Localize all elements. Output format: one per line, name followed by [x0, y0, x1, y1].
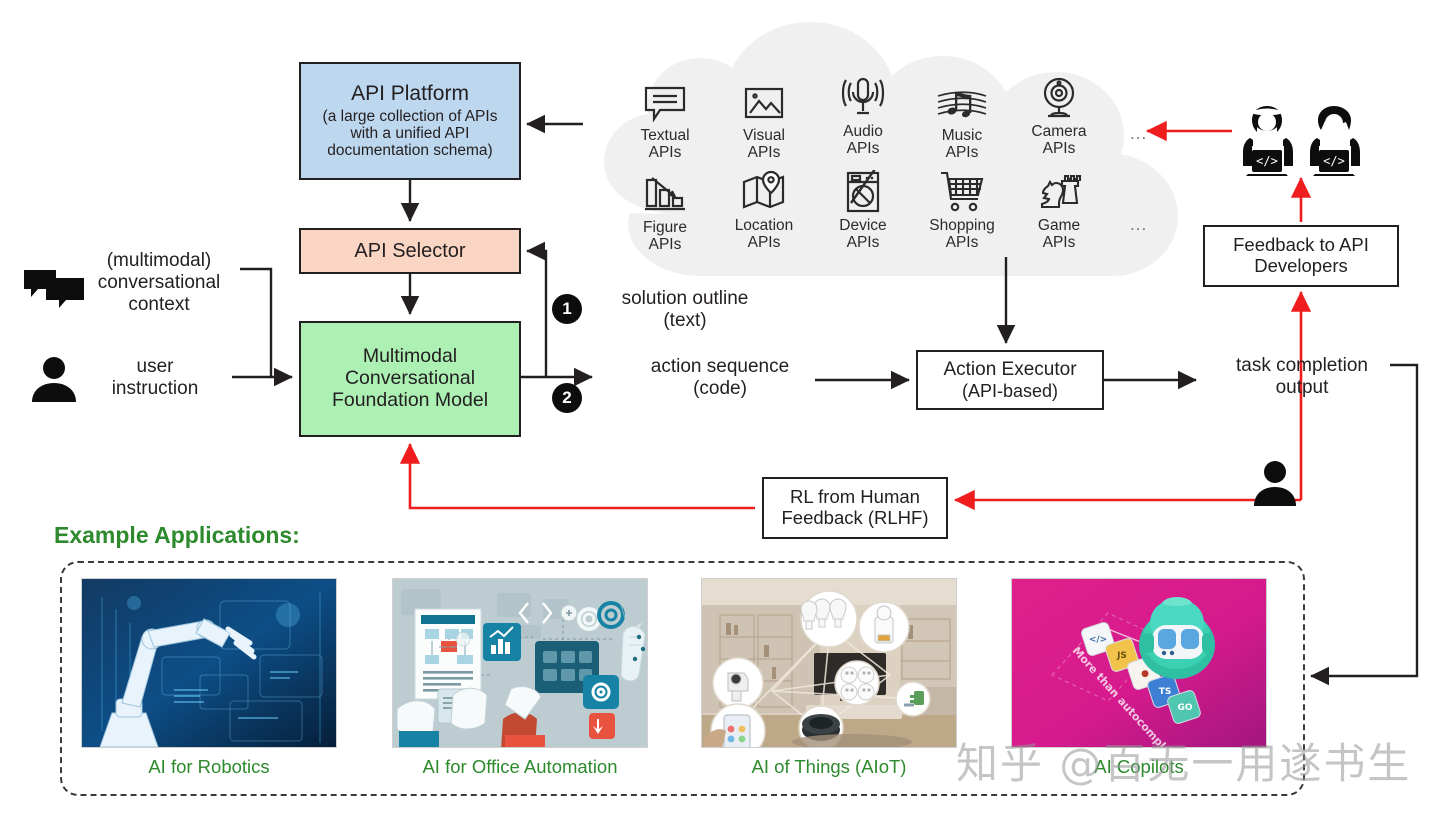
node-title-line2: Feedback (RLHF) — [781, 508, 928, 529]
cloud-item-label: Camera — [1031, 123, 1086, 140]
textual-apis-icon — [642, 76, 688, 124]
example-card-office-automation[interactable]: AI for Office Automation — [392, 578, 648, 778]
label-line2: instruction — [112, 378, 199, 399]
visual-apis-icon — [743, 76, 785, 124]
example-card-caption: AI for Robotics — [81, 756, 337, 778]
node-rl-from-human-feedback[interactable]: RL from Human Feedback (RLHF) — [762, 477, 948, 539]
label-line1: user — [137, 356, 174, 377]
label-line2: conversational — [98, 272, 221, 293]
cloud-item-label: Shopping — [929, 217, 995, 234]
label-line3: context — [128, 294, 189, 315]
developer-icon-2: </> — [1305, 104, 1363, 176]
cloud-item-label: Location — [735, 217, 794, 234]
node-multimodal-conversational-foundation-model[interactable]: Multimodal Conversational Foundation Mod… — [299, 321, 521, 437]
label-task-completion-output: task completion output — [1202, 355, 1402, 399]
node-title-line3: Foundation Model — [332, 390, 488, 412]
cloud-item-label: Device — [839, 217, 886, 234]
step-badge-2: 2 — [552, 383, 582, 413]
node-title: Action Executor — [943, 359, 1076, 380]
shopping-apis-icon — [939, 166, 985, 214]
cloud-item-label: Audio — [843, 123, 883, 140]
label-line1: task completion — [1236, 355, 1368, 376]
label-line1: (multimodal) — [107, 250, 212, 271]
cloud-item-sublabel: APIs — [1043, 234, 1076, 251]
watermark-text: 知乎 @百无一用遂书生 — [956, 730, 1411, 791]
label-line2: (code) — [693, 378, 747, 399]
cloud-item-sublabel: APIs — [748, 144, 781, 161]
example-card-caption: AI of Things (AIoT) — [701, 756, 957, 778]
node-subtitle-line1: (a large collection of APIs — [323, 108, 498, 125]
cloud-item-sublabel: APIs — [847, 234, 880, 251]
label-action-sequence: action sequence (code) — [600, 356, 840, 400]
cloud-item-device-apis: DeviceAPIs — [815, 166, 911, 252]
node-title-line2: Conversational — [345, 368, 475, 390]
example-applications-title: Example Applications: — [54, 522, 300, 549]
node-title-line1: RL from Human — [790, 487, 920, 508]
label-line2: (text) — [663, 310, 706, 331]
label-line1: action sequence — [651, 356, 789, 377]
node-title-line1: Multimodal — [363, 346, 457, 368]
smart-home-photo — [701, 578, 957, 748]
cloud-item-sublabel: APIs — [748, 234, 781, 251]
cloud-item-label: Visual — [743, 127, 785, 144]
example-card-aiot[interactable]: AI of Things (AIoT) — [701, 578, 957, 778]
cloud-item-shopping-apis: ShoppingAPIs — [914, 166, 1010, 252]
end-user-icon — [1252, 460, 1298, 506]
cloud-item-audio-apis: AudioAPIs — [815, 72, 911, 158]
label-user-instruction: user instruction — [80, 356, 230, 400]
cloud-item-sublabel: APIs — [649, 236, 682, 253]
cloud-item-label: Textual — [640, 127, 689, 144]
cloud-item-sublabel: APIs — [946, 234, 979, 251]
node-subtitle-line2: with a unified API — [351, 125, 470, 142]
cloud-item-sublabel: APIs — [649, 144, 682, 161]
developer-icon-1: </> — [1238, 104, 1296, 176]
example-card-caption: AI for Office Automation — [392, 756, 648, 778]
label-line1: solution outline — [622, 288, 749, 309]
cloud-item-location-apis: LocationAPIs — [716, 166, 812, 252]
cloud-item-textual-apis: TextualAPIs — [617, 76, 713, 162]
node-feedback-to-api-developers[interactable]: Feedback to API Developers — [1203, 225, 1399, 287]
node-title-line1: Feedback to API — [1233, 235, 1369, 256]
cloud-item-music-apis: MusicAPIs — [914, 76, 1010, 162]
figure-apis-icon — [643, 168, 687, 216]
node-api-platform[interactable]: API Platform (a large collection of APIs… — [299, 62, 521, 180]
cloud-item-visual-apis: VisualAPIs — [716, 76, 812, 162]
camera-apis-icon — [1037, 72, 1081, 120]
svg-text:TS: TS — [1159, 687, 1172, 697]
robotic-arm-photo — [81, 578, 337, 748]
location-apis-icon — [741, 166, 787, 214]
game-apis-icon — [1036, 166, 1082, 214]
label-conversational-context: (multimodal) conversational context — [74, 250, 244, 316]
node-title: API Platform — [351, 82, 469, 106]
cloud-item-figure-apis: FigureAPIs — [617, 168, 713, 254]
svg-text:</>: </> — [1323, 154, 1345, 168]
cloud-item-label: Game — [1038, 217, 1080, 234]
device-apis-icon — [842, 166, 884, 214]
node-api-selector[interactable]: API Selector — [299, 228, 521, 274]
node-title: API Selector — [354, 240, 465, 262]
svg-text:JS: JS — [1116, 651, 1127, 661]
copilot-graphic: </> JS ● TS GO More than autocomplete — [1011, 578, 1267, 748]
cloud-ellipsis-row1: ... — [1130, 124, 1147, 144]
music-apis-icon — [936, 76, 988, 124]
svg-text:●: ● — [1141, 669, 1149, 679]
diagram-canvas: TextualAPIs VisualAPIs AudioAPIs MusicAP… — [0, 0, 1440, 813]
cloud-ellipsis-row2: ... — [1130, 215, 1147, 235]
cloud-item-sublabel: APIs — [1043, 140, 1076, 157]
example-card-robotics[interactable]: AI for Robotics — [81, 578, 337, 778]
node-subtitle: (API-based) — [962, 381, 1058, 401]
office-automation-illustration — [392, 578, 648, 748]
label-line2: output — [1276, 377, 1329, 398]
cloud-item-sublabel: APIs — [847, 140, 880, 157]
label-solution-outline: solution outline (text) — [592, 288, 778, 332]
svg-text:GO: GO — [1177, 703, 1192, 713]
cloud-item-camera-apis: CameraAPIs — [1011, 72, 1107, 158]
cloud-item-label: Figure — [643, 219, 687, 236]
step-badge-1: 1 — [552, 294, 582, 324]
node-action-executor[interactable]: Action Executor (API-based) — [916, 350, 1104, 410]
svg-text:</>: </> — [1256, 154, 1278, 168]
node-title-line2: Developers — [1254, 256, 1348, 277]
svg-text:</>: </> — [1089, 635, 1107, 645]
user-person-icon — [30, 356, 78, 402]
cloud-item-sublabel: APIs — [946, 144, 979, 161]
cloud-item-label: Music — [942, 127, 982, 144]
audio-apis-icon — [839, 72, 887, 120]
cloud-item-game-apis: GameAPIs — [1011, 166, 1107, 252]
chat-bubbles-icon — [22, 268, 86, 310]
node-subtitle-line3: documentation schema) — [327, 142, 492, 159]
